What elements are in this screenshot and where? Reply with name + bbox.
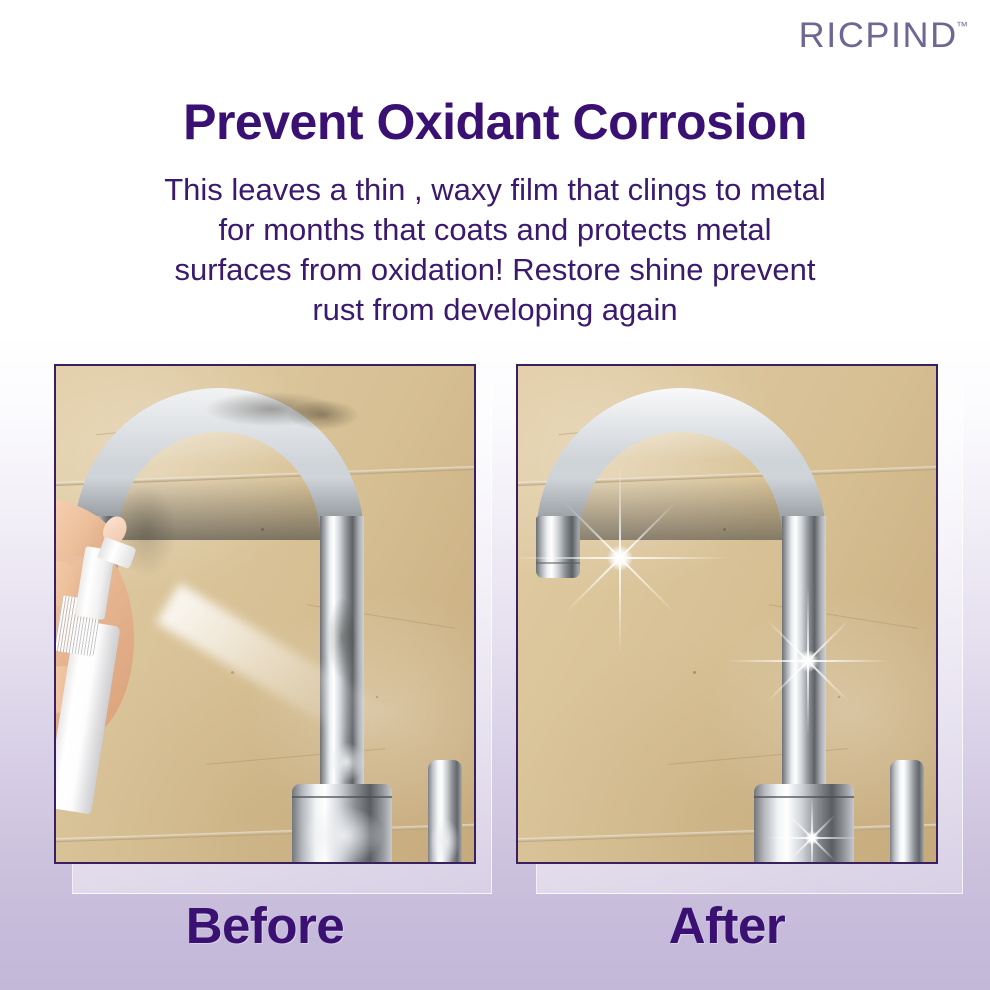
description-line-3: surfaces from oxidation! Restore shine p… [60,250,930,290]
water-scale-3 [430,818,460,864]
faucet-base-ring [292,796,392,798]
page-title: Prevent Oxidant Corrosion [0,96,990,149]
description-text: This leaves a thin , waxy film that clin… [60,170,930,330]
water-scale-2 [326,742,366,782]
description-line-4: rust from developing again [60,290,930,330]
faucet-spout-tip [536,516,580,578]
spout-ring [536,562,580,564]
faucet-handle [890,760,924,864]
description-line-1: This leaves a thin , waxy film that clin… [60,170,930,210]
description-line-2: for months that coats and protects metal [60,210,930,250]
faucet-base-ring [754,796,854,798]
faucet-riser [782,516,826,801]
caption-after: After [516,896,938,955]
promo-graphic: RICPIND ™ Prevent Oxidant Corrosion This… [0,0,990,990]
trademark-symbol: ™ [956,20,968,32]
after-image [516,364,938,864]
brand-wordmark: RICPIND [798,18,957,53]
oxidation-stain-2 [288,400,358,430]
brand-logo: RICPIND ™ [801,18,968,53]
faucet-after [518,366,936,862]
before-image [54,364,476,864]
caption-before: Before [54,896,476,955]
water-scale-1 [302,806,384,864]
oxidation-stain-3 [328,598,356,678]
